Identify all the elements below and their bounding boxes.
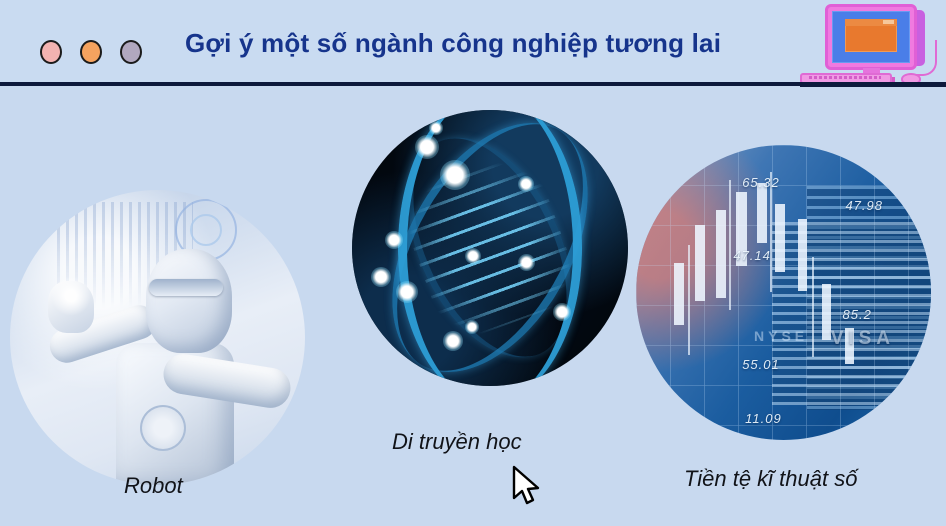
page-title: Gợi ý một số ngành công nghiệp tương lai [185,28,785,59]
chart-value-label: 65.32 [742,175,780,190]
robot-visor [149,279,223,296]
dna-glow-particle [443,331,463,351]
chart-value-label: 47.98 [845,198,883,213]
ticker-text: NYSE [754,328,808,344]
robot-head [146,249,232,353]
chart-value-label: 11.09 [745,411,782,426]
chart-value-label: 55.01 [742,357,780,372]
screen-window-controls [883,20,894,24]
visa-text: VISA [831,328,895,350]
caption-genetics: Di truyền học [392,429,522,455]
dna-glow-particle [518,176,534,192]
caption-robot: Robot [124,473,183,499]
candlestick-bar [757,183,767,243]
chart-value-label: 47.14 [733,248,771,263]
cursor-arrow-icon [511,465,545,509]
dot-orange-icon[interactable] [80,40,102,64]
robot-photo[interactable] [10,190,305,485]
desktop-computer-icon [805,2,945,86]
candlestick-bar [716,210,726,298]
window-controls [40,40,142,64]
header-bar: Gợi ý một số ngành công nghiệp tương lai [0,0,946,84]
candlestick-wick [729,180,731,310]
candlestick-bar [822,284,831,340]
dot-purple-icon[interactable] [120,40,142,64]
dna-photo[interactable] [352,110,628,386]
candlestick-wick [688,245,690,355]
dna-glow-particle [440,160,470,190]
dna-glow-particle [465,320,479,334]
robot-chest-dial [140,405,186,451]
mouse-pointer [511,465,545,509]
dna-glow-particle [518,254,535,271]
desk-line [800,84,946,87]
finance-photo[interactable]: 65.32 47.14 55.01 11.09 47.98 85.2 NYSE … [636,145,931,440]
candlestick-bar [775,204,785,272]
robot-spark-glow [51,276,91,316]
chart-value-label: 85.2 [843,307,872,322]
candlestick-bar [674,263,684,325]
mouse-cable [915,40,937,76]
candlestick-wick [812,257,814,357]
dot-pink-icon[interactable] [40,40,62,64]
keyboard-keys [809,76,881,79]
candlestick-bar [798,219,807,291]
candlestick-bar [695,225,705,301]
caption-digital-currency: Tiền tệ kĩ thuật số [684,466,857,492]
